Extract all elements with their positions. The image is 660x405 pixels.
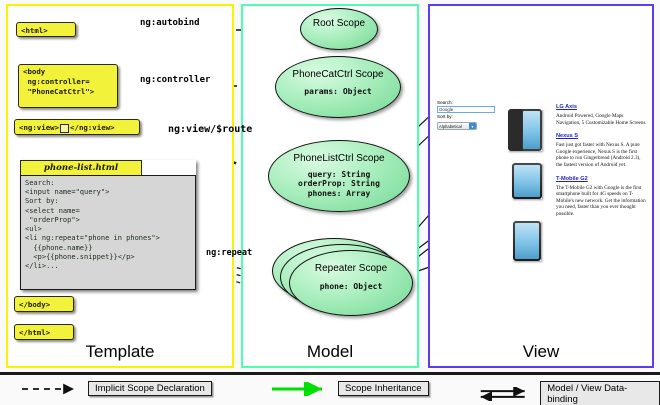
phone-link-lg-axis[interactable]: LG Axis xyxy=(556,104,648,111)
sort-label: Sort by: xyxy=(437,114,499,120)
chevron-down-icon: ▾ xyxy=(469,123,476,129)
double-arrow-icon xyxy=(475,387,534,401)
scope-repeater-title: Repeater Scope xyxy=(290,263,412,275)
phone-link-nexus-s[interactable]: Nexus S xyxy=(556,133,648,140)
scope-phonelistctrl-title: PhoneListCtrl Scope xyxy=(269,153,409,165)
scope-root: Root Scope xyxy=(300,8,378,50)
phone-snippet-tmobile-g2: The T-Mobile G2 with Google is the first… xyxy=(556,185,648,218)
phone-thumbnail-tmobile-g2 xyxy=(513,221,541,261)
phone-thumbnail-lg-axis xyxy=(508,109,542,151)
legend-label-implicit: Implicit Scope Declaration xyxy=(88,381,212,396)
view-phone-list: LG Axis Android Powered, Google Maps Nav… xyxy=(556,104,648,225)
view-search-form: Search: Google Sort by: Alphabetical ▾ xyxy=(437,100,499,130)
scope-phonecatctrl-title: PhoneCatCtrl Scope xyxy=(276,69,400,81)
note-code-body: Search: <input name="query"> Sort by: <s… xyxy=(20,175,196,290)
ng-view-placeholder-icon xyxy=(60,124,69,133)
scope-repeater-prop-phone: phone: Object xyxy=(290,282,412,292)
scope-phonelistctrl-prop-query: query: String xyxy=(269,170,409,180)
scope-phonecatctrl: PhoneCatCtrl Scope params: Object xyxy=(275,56,401,118)
ng-view-close: </ng:view> xyxy=(70,123,115,132)
template-tag-body-close: </body> xyxy=(14,296,74,312)
legend-label-inheritance: Scope Inheritance xyxy=(338,381,429,396)
connector-label-ng-view-route: ng:view/$route xyxy=(168,124,252,135)
legend-item-inheritance: Scope Inheritance xyxy=(270,381,429,396)
scope-phonelistctrl-prop-phones: phones: Array xyxy=(269,189,409,199)
template-tag-html-open: <html> xyxy=(16,22,76,37)
connector-label-ng-autobind: ng:autobind xyxy=(140,18,200,28)
template-tag-html-close: </html> xyxy=(14,324,74,340)
ng-view-open: <ng:view> xyxy=(19,123,59,132)
legend: Implicit Scope Declaration Scope Inherit… xyxy=(0,372,660,405)
sort-select-value: Alphabetical xyxy=(439,124,462,129)
connector-label-ng-controller: ng:controller xyxy=(140,75,210,85)
sort-select[interactable]: Alphabetical ▾ xyxy=(437,122,477,130)
legend-item-binding: Model / View Data-binding xyxy=(475,381,660,405)
dashed-arrow-icon xyxy=(20,382,82,396)
connector-label-ng-repeat: ng:repeat xyxy=(206,248,252,258)
list-item: Nexus S Fast just got faster with Nexus … xyxy=(556,133,648,168)
search-input[interactable]: Google xyxy=(437,106,495,113)
scope-phonelistctrl: PhoneListCtrl Scope query: String orderP… xyxy=(268,140,410,212)
legend-label-binding: Model / View Data-binding xyxy=(540,381,660,405)
phone-snippet-nexus-s: Fast just got faster with Nexus S. A pur… xyxy=(556,142,648,168)
template-tag-body-open: <body ng:controller= "PhoneCatCtrl"> xyxy=(18,64,118,108)
legend-item-implicit: Implicit Scope Declaration xyxy=(20,381,212,396)
column-label-model: Model xyxy=(243,342,417,362)
template-tag-ng-view: <ng:view></ng:view> xyxy=(14,119,140,135)
legend-divider xyxy=(0,372,660,375)
template-note-phone-list: phone-list.html Search: <input name="que… xyxy=(20,160,196,290)
phone-link-tmobile-g2[interactable]: T-Mobile G2 xyxy=(556,176,648,183)
scope-repeater: Repeater Scope phone: Object xyxy=(289,250,413,316)
list-item: T-Mobile G2 The T-Mobile G2 with Google … xyxy=(556,176,648,218)
note-filename-tab: phone-list.html xyxy=(20,160,142,176)
scope-root-title: Root Scope xyxy=(301,18,377,30)
phone-snippet-lg-axis: Android Powered, Google Maps Navigation,… xyxy=(556,113,648,126)
phone-thumbnail-nexus-s xyxy=(512,163,542,199)
diagram-canvas: Template <html> <body ng:controller= "Ph… xyxy=(0,0,660,405)
green-arrow-icon xyxy=(270,382,332,396)
column-label-template: Template xyxy=(8,342,232,362)
scope-phonecatctrl-prop-params: params: Object xyxy=(276,87,400,97)
column-label-view: View xyxy=(430,342,652,362)
list-item: LG Axis Android Powered, Google Maps Nav… xyxy=(556,104,648,126)
scope-phonelistctrl-prop-orderprop: orderProp: String xyxy=(269,179,409,189)
